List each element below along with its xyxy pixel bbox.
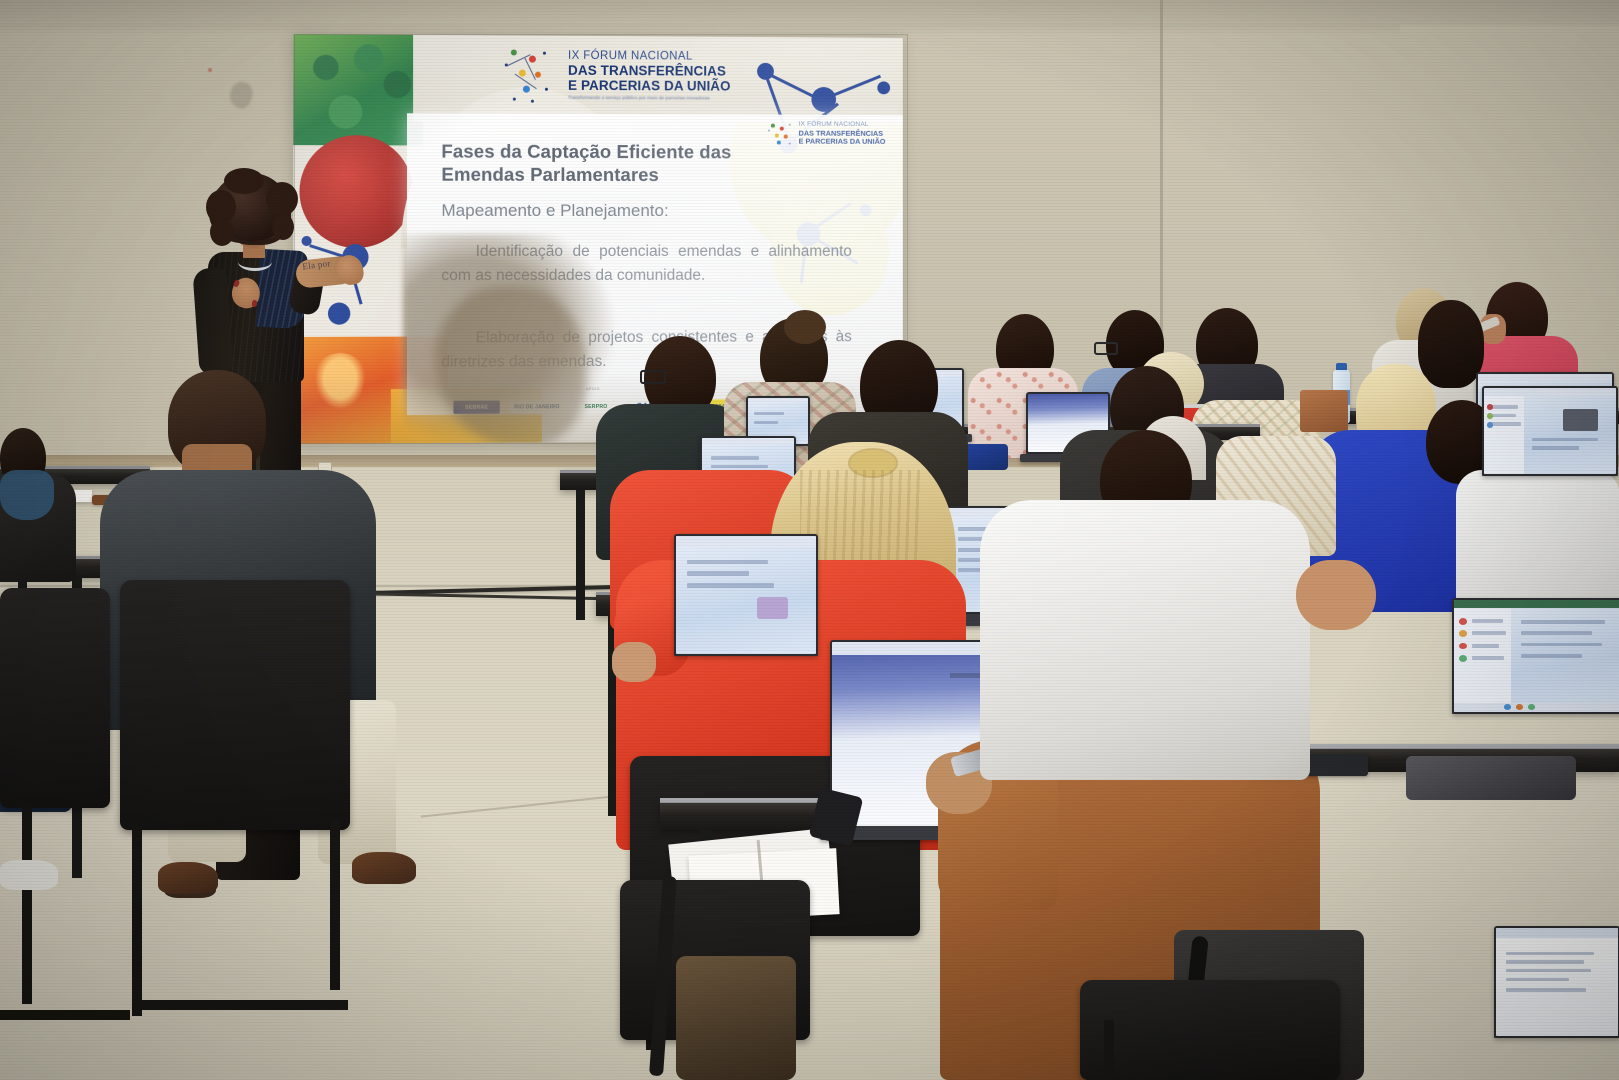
bag-on-chair bbox=[676, 956, 796, 1080]
attendee-shoe bbox=[0, 860, 58, 890]
presenter-hair-tuft bbox=[224, 168, 264, 194]
corner-logo-line-3: E PARCERIAS DA UNIÃO bbox=[799, 137, 886, 146]
glasses-icon bbox=[640, 370, 666, 384]
forum-line-1: IX FÓRUM NACIONAL bbox=[568, 50, 777, 64]
sponsor-logo-sebrae: SEBRAE bbox=[453, 401, 499, 414]
attendee-white-shirt-front bbox=[980, 500, 1310, 780]
network-node bbox=[877, 81, 890, 94]
classroom-scene: IX FÓRUM NACIONAL DAS TRANSFERÊNCIAS E P… bbox=[0, 0, 1619, 1080]
attendee-shoe bbox=[352, 852, 416, 884]
presenter-hair-tuft bbox=[210, 218, 234, 246]
chair-leg bbox=[330, 820, 340, 990]
network-node bbox=[302, 236, 312, 246]
chair bbox=[0, 588, 110, 808]
chair bbox=[120, 580, 350, 830]
slide-bullet-1: Identificação de potenciais emendas e al… bbox=[441, 240, 851, 288]
ceiling-beam bbox=[0, 0, 1619, 26]
corner-logo-line-1: IX FÓRUM NACIONAL bbox=[799, 121, 869, 128]
banner-orange-face bbox=[312, 353, 369, 414]
presenter-arm-left bbox=[192, 267, 233, 375]
banner-green-photo bbox=[293, 34, 423, 145]
attendee-shoe bbox=[158, 862, 218, 894]
attendee-bun bbox=[784, 310, 826, 344]
sponsor-logo-rio-de-janeiro: RIO DE JANEIRO bbox=[510, 400, 564, 413]
banner-red-circle bbox=[299, 135, 413, 248]
chair-leg bbox=[22, 804, 32, 1004]
attendee-hand bbox=[612, 642, 656, 682]
attendee-hand bbox=[1296, 560, 1376, 630]
slide-title: Fases da Captação Eficiente das Emendas … bbox=[441, 140, 810, 187]
forum-wordmark: IX FÓRUM NACIONAL DAS TRANSFERÊNCIAS E P… bbox=[568, 50, 777, 101]
desk-leg bbox=[576, 490, 585, 620]
glasses-icon bbox=[1094, 342, 1118, 355]
forum-line-2: DAS TRANSFERÊNCIAS bbox=[568, 63, 777, 79]
wall-mark bbox=[208, 68, 212, 72]
laptop-closed bbox=[1406, 756, 1576, 800]
sponsor-label: APOIO bbox=[586, 387, 600, 391]
presenter-hair-tuft bbox=[272, 214, 294, 240]
chair-leg bbox=[1104, 1020, 1114, 1080]
network-node bbox=[811, 87, 836, 112]
chair-crossbar bbox=[0, 1010, 130, 1020]
attendee-head bbox=[1418, 300, 1484, 388]
chair-crossbar bbox=[132, 1000, 348, 1010]
presenter-necklace bbox=[238, 253, 272, 271]
attendee-shoulder bbox=[0, 470, 54, 520]
network-node bbox=[328, 302, 350, 324]
chair bbox=[1080, 980, 1340, 1080]
chair-leg bbox=[132, 826, 142, 1016]
presenter-hair-tuft bbox=[266, 182, 298, 216]
ceiling-beam-secondary bbox=[0, 24, 1400, 34]
leather-bag bbox=[1300, 390, 1348, 432]
forum-line-3: E PARCERIAS DA UNIÃO bbox=[568, 78, 777, 94]
forum-logo-mark bbox=[501, 47, 561, 105]
forum-tagline: Transformando o serviço público por meio… bbox=[568, 95, 777, 101]
slide-subtitle: Mapeamento e Planejamento: bbox=[441, 200, 869, 222]
